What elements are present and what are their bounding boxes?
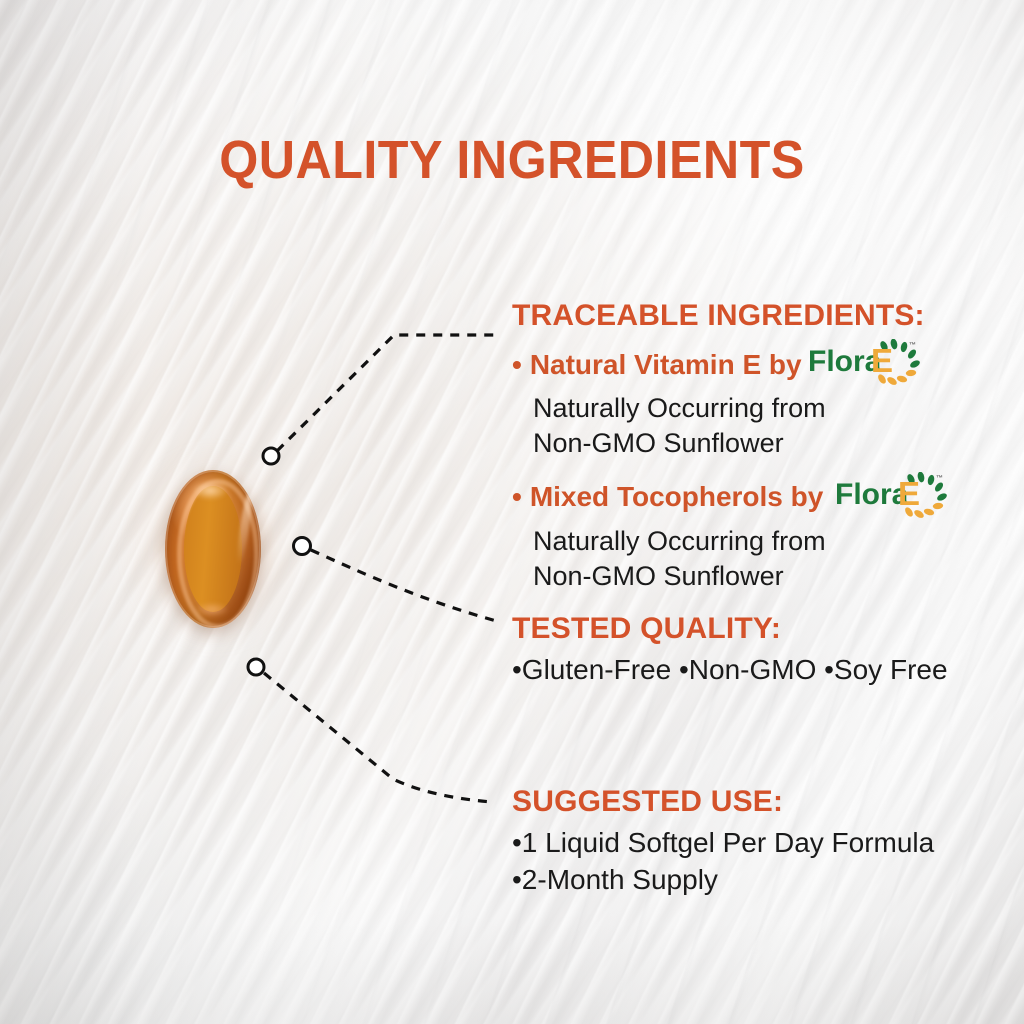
traceable-sub-line-2: Non-GMO Sunflower [512, 426, 925, 461]
traceable-sub-line-1: Naturally Occurring from [512, 391, 925, 426]
section-suggested-use: SUGGESTED USE: •1 Liquid Softgel Per Day… [512, 786, 934, 898]
section-mixed-tocopherols: • Mixed Tocopherols by Flora [512, 474, 947, 593]
bullet-marker: • [512, 480, 522, 513]
florae-trademark: ™ [936, 475, 943, 482]
suggested-use-heading: SUGGESTED USE: [512, 786, 934, 818]
suggested-use-line-1: •1 Liquid Softgel Per Day Formula [512, 825, 934, 861]
capsule-body [165, 470, 261, 628]
tested-quality-heading: TESTED QUALITY: [512, 613, 948, 645]
bullet-mixed-tocopherols: • Mixed Tocopherols by Flora [512, 474, 947, 520]
florae-trademark: ™ [909, 342, 916, 349]
section-traceable-ingredients: TRACEABLE INGREDIENTS: • Natural Vitamin… [512, 300, 925, 460]
florae-logo: Flora E ™ [808, 339, 920, 385]
bullet-marker: • [512, 348, 522, 381]
tocopherols-sub-line-1: Naturally Occurring from [512, 524, 947, 559]
tocopherols-sub-line-2: Non-GMO Sunflower [512, 559, 947, 594]
capsule-edge [165, 470, 261, 628]
suggested-use-line-2: •2-Month Supply [512, 862, 934, 898]
bullet-natural-vitamin-e: • Natural Vitamin E by [512, 341, 925, 387]
florae-logo: Flora E ™ [835, 472, 947, 518]
bullet-mixed-tocopherols-label: Mixed Tocopherols by [530, 480, 824, 513]
florae-letter-gold: E [871, 342, 893, 379]
softgel-capsule-image [148, 452, 280, 644]
infographic-canvas: QUALITY INGREDIENTS TRACEABLE INGREDIENT… [0, 0, 1024, 1024]
page-title: QUALITY INGREDIENTS [36, 133, 988, 187]
florae-letter-gold: E [898, 475, 920, 512]
bullet-natural-vitamin-e-label: Natural Vitamin E by [530, 348, 802, 381]
tested-quality-claims: •Gluten-Free •Non-GMO •Soy Free [512, 652, 948, 688]
section-tested-quality: TESTED QUALITY: •Gluten-Free •Non-GMO •S… [512, 613, 948, 689]
traceable-ingredients-heading: TRACEABLE INGREDIENTS: [512, 300, 925, 332]
